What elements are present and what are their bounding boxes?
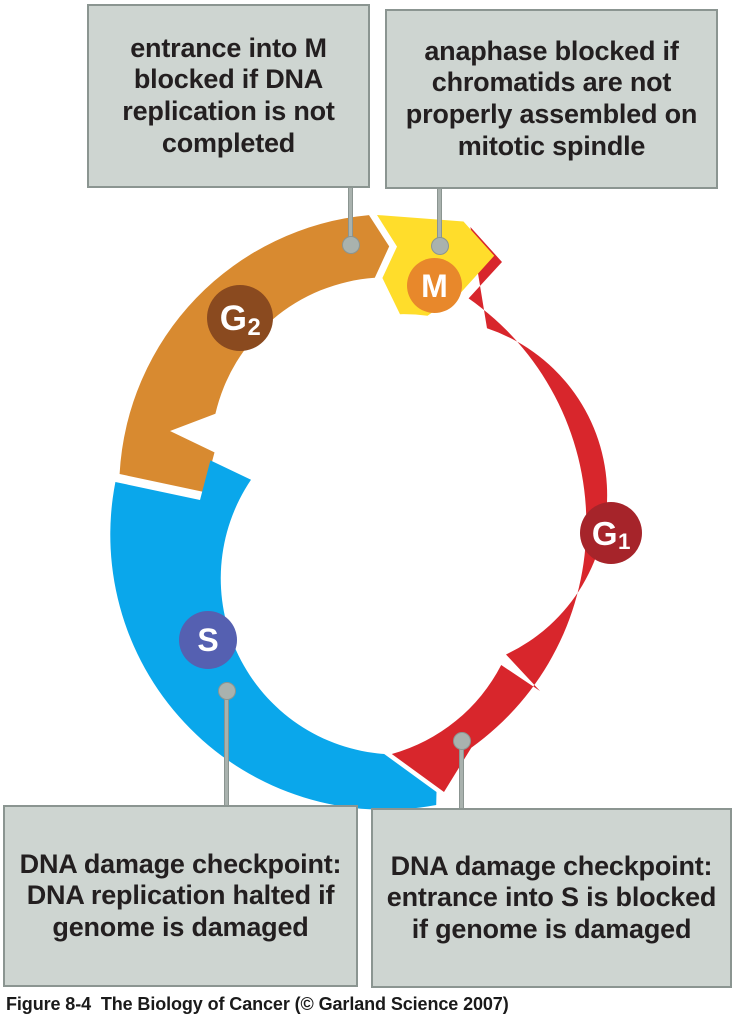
pin-stem — [459, 746, 464, 810]
phase-label-m-text: M — [421, 270, 448, 302]
figure-canvas: G2 M G1 S entrance into M blocked if DNA… — [0, 0, 741, 1024]
callout-text: entrance into M blocked if DNA replicati… — [97, 33, 360, 159]
pin-ball — [342, 236, 360, 254]
pin-s — [224, 682, 230, 807]
figure-caption: Figure 8-4 The Biology of Cancer (© Garl… — [6, 994, 509, 1015]
phase-label-m: M — [407, 258, 462, 313]
pin-g1 — [459, 732, 465, 810]
pin-m — [437, 189, 443, 259]
callout-dna-damage-s-halted[interactable]: DNA damage checkpoint: DNA replication h… — [3, 805, 358, 987]
phase-label-g1: G1 — [580, 502, 642, 564]
phase-label-g1-text: G1 — [592, 517, 630, 550]
phase-label-s: S — [179, 611, 237, 669]
callout-anaphase-blocked[interactable]: anaphase blocked if chromatids are not p… — [385, 9, 718, 189]
phase-label-g2-text: G2 — [220, 301, 260, 336]
pin-stem — [224, 696, 229, 807]
callout-text: DNA damage checkpoint: entrance into S i… — [381, 851, 722, 946]
callout-text: anaphase blocked if chromatids are not p… — [395, 36, 708, 162]
phase-label-g2-sub: 2 — [247, 314, 260, 341]
pin-ball — [431, 237, 449, 255]
callout-dna-damage-entrance-s[interactable]: DNA damage checkpoint: entrance into S i… — [371, 808, 732, 988]
pin-ball — [218, 682, 236, 700]
callout-entrance-into-m[interactable]: entrance into M blocked if DNA replicati… — [87, 4, 370, 188]
segment-s[interactable] — [110, 460, 436, 809]
phase-label-s-text: S — [197, 624, 218, 656]
callout-text: DNA damage checkpoint: DNA replication h… — [13, 849, 348, 944]
pin-ball — [453, 732, 471, 750]
pin-g2 — [348, 188, 354, 258]
phase-label-g1-sub: 1 — [618, 529, 630, 554]
phase-label-g2: G2 — [207, 285, 273, 351]
